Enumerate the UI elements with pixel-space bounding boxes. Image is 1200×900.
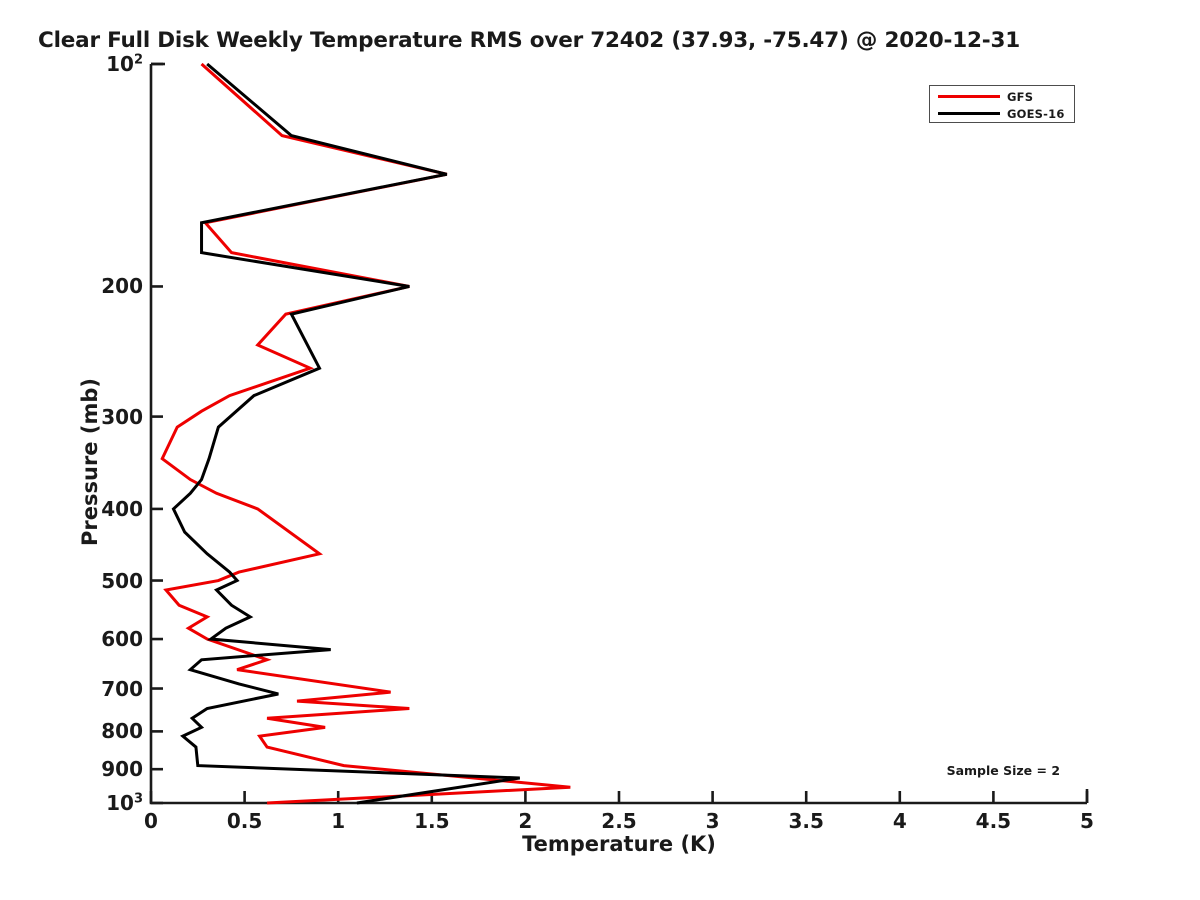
x-axis-label: Temperature (K): [151, 832, 1087, 856]
series-line-goes-16: [173, 64, 519, 803]
x-tick-label: 2.5: [601, 809, 636, 833]
y-tick-label: 400: [101, 497, 143, 521]
y-tick-label: 800: [101, 719, 143, 743]
legend-label-goes16: GOES-16: [1007, 107, 1065, 121]
legend-swatch-goes16: [938, 112, 1000, 115]
x-tick-label: 2: [518, 809, 532, 833]
chart-canvas: Clear Full Disk Weekly Temperature RMS o…: [0, 0, 1200, 900]
y-tick-label: 500: [101, 569, 143, 593]
legend-label-gfs: GFS: [1007, 90, 1033, 104]
legend-swatch-gfs: [938, 95, 1000, 98]
legend-item-goes16: GOES-16: [930, 104, 1074, 123]
sample-size-annotation: Sample Size = 2: [947, 763, 1060, 778]
y-tick-label: 200: [101, 274, 143, 298]
y-tick-label: 102: [106, 52, 143, 76]
y-tick-label: 600: [101, 627, 143, 651]
x-tick-label: 1.5: [414, 809, 449, 833]
legend: GFS GOES-16: [929, 85, 1075, 123]
x-tick-label: 4.5: [976, 809, 1011, 833]
x-tick-label: 1: [331, 809, 345, 833]
y-tick-label: 700: [101, 677, 143, 701]
x-tick-label: 3: [706, 809, 720, 833]
y-tick-label: 900: [101, 757, 143, 781]
y-tick-label: 300: [101, 405, 143, 429]
x-tick-label: 4: [893, 809, 907, 833]
y-axis-label: Pressure (mb): [78, 312, 102, 612]
x-tick-label: 5: [1080, 809, 1094, 833]
series-line-gfs: [162, 64, 570, 803]
y-tick-label: 103: [106, 791, 143, 815]
x-tick-label: 0.5: [227, 809, 262, 833]
x-tick-label: 3.5: [788, 809, 823, 833]
x-tick-label: 0: [144, 809, 158, 833]
